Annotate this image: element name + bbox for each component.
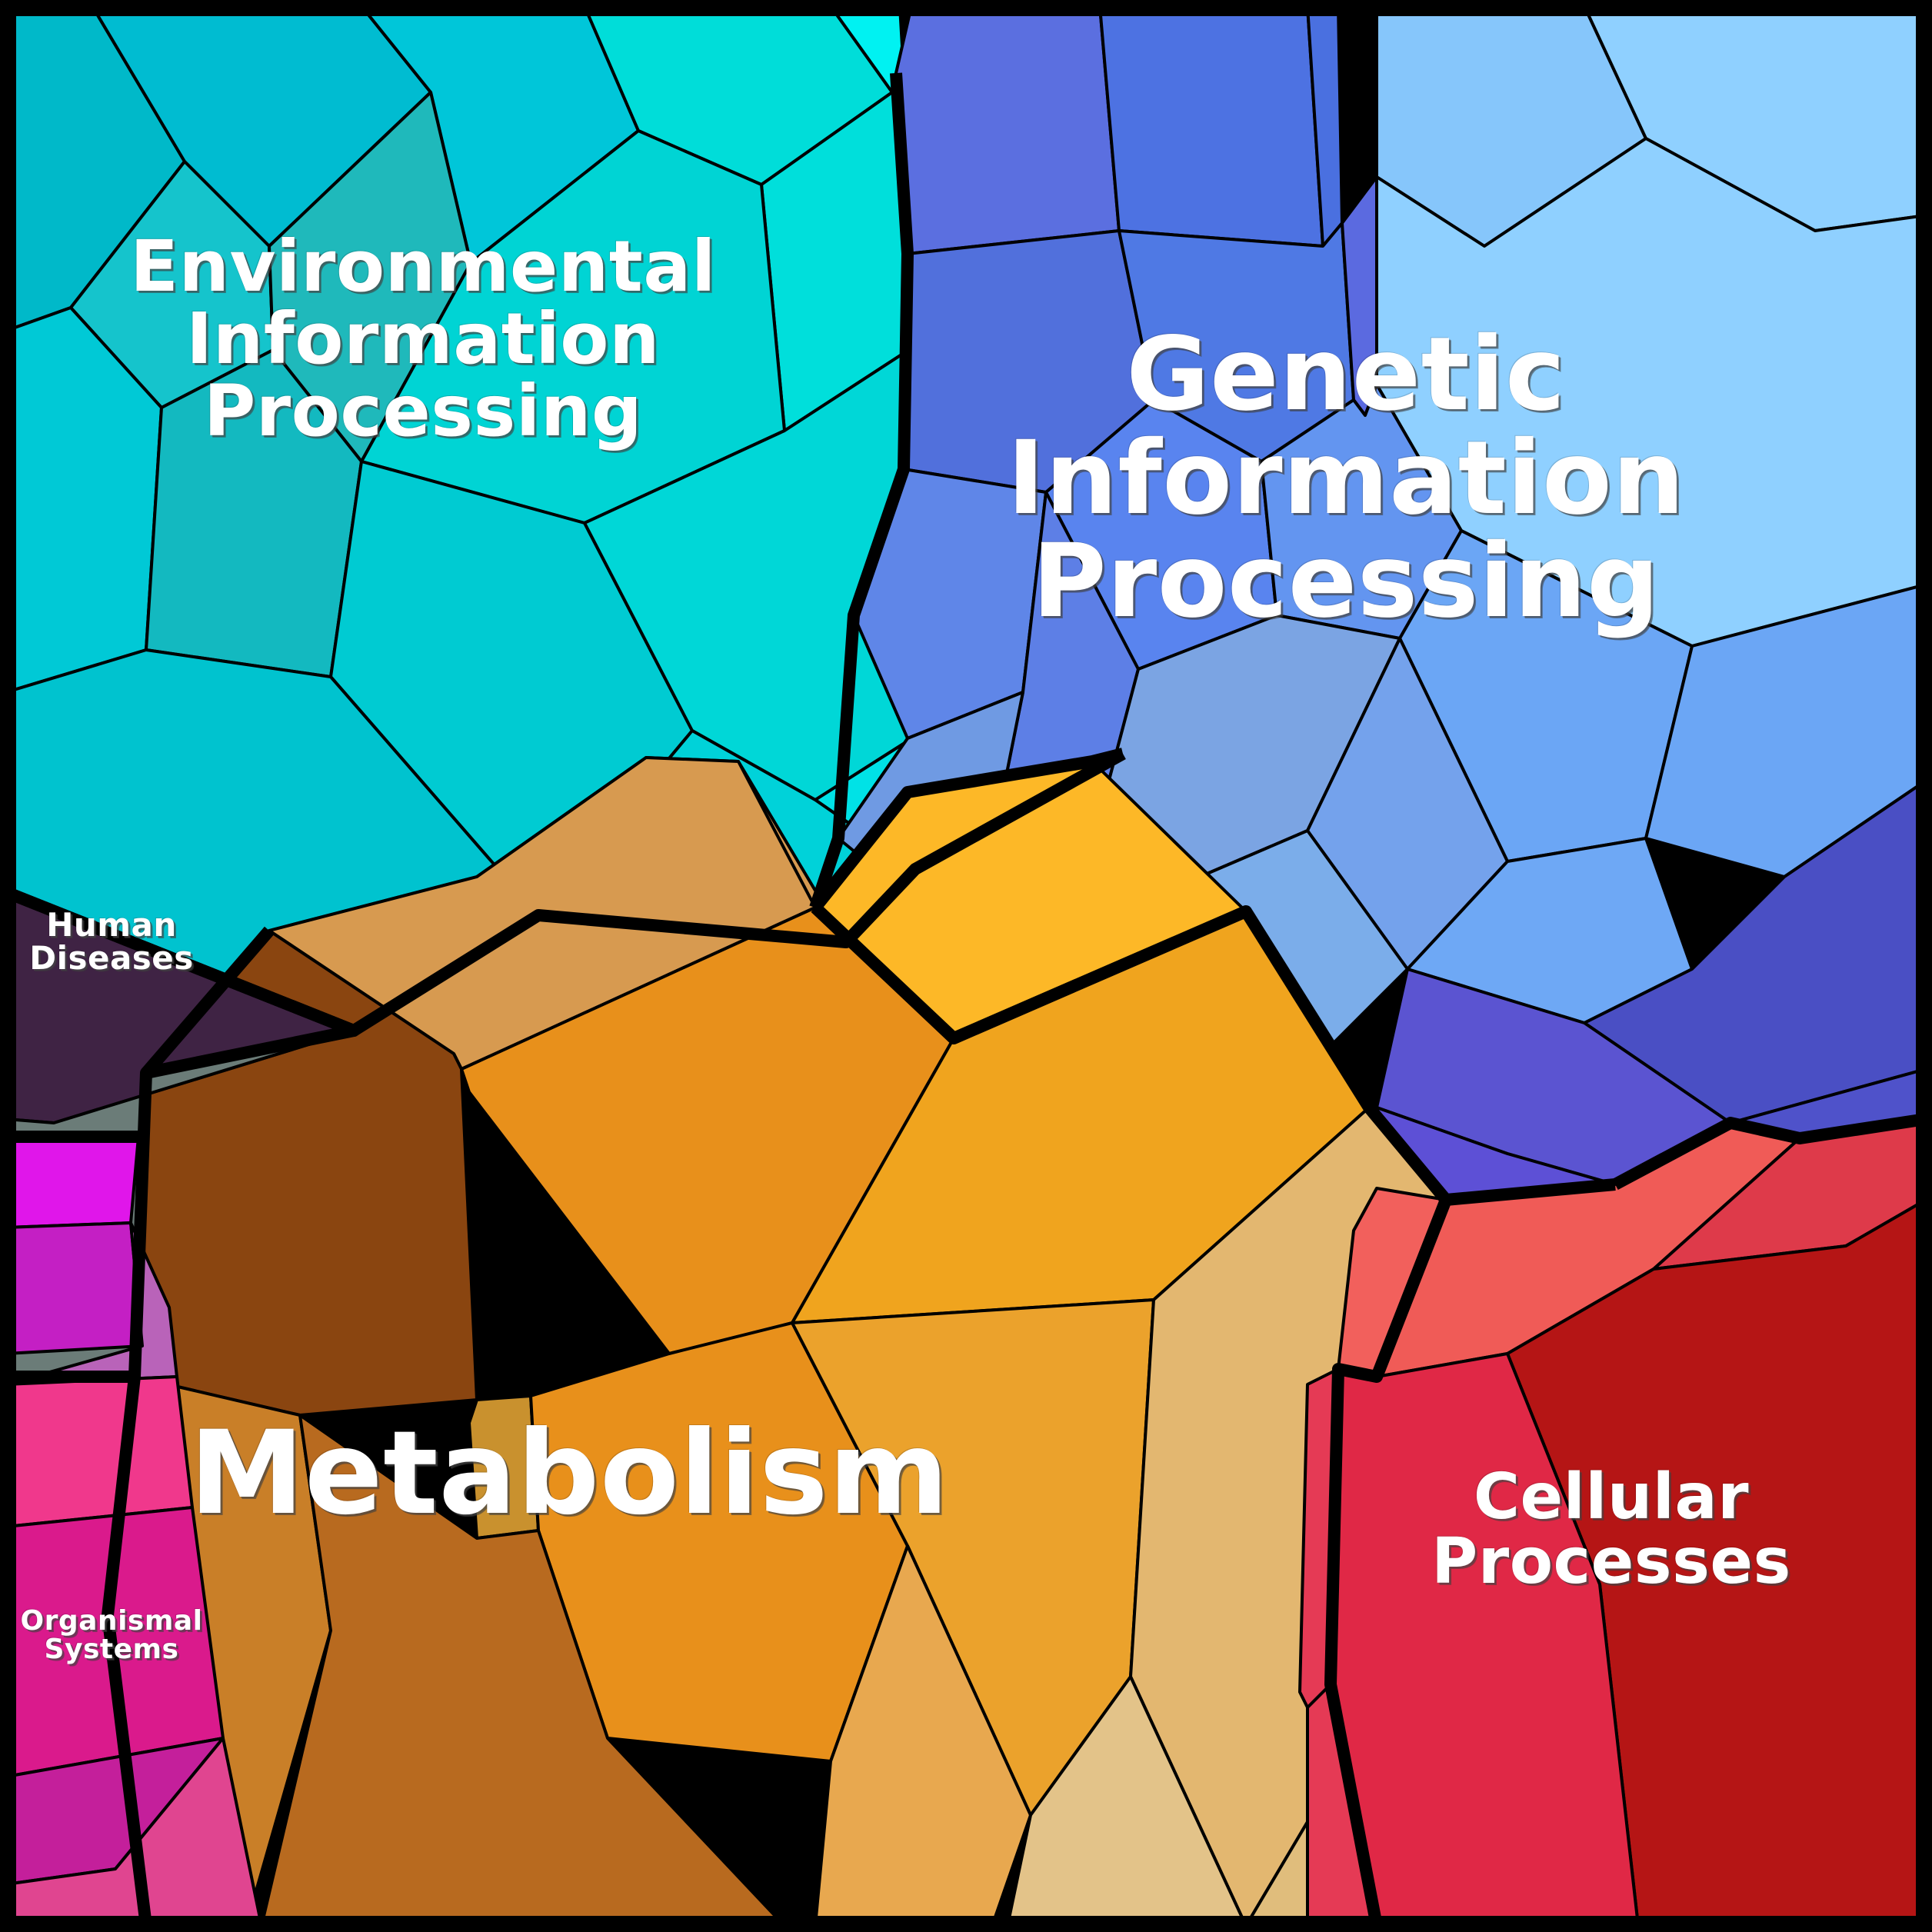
group-cellular-processes[interactable] bbox=[1300, 1119, 1926, 1926]
treemap-cell[interactable] bbox=[469, 1396, 538, 1538]
treemap-cell[interactable] bbox=[896, 6, 1119, 254]
treemap-cell[interactable] bbox=[6, 1377, 192, 1527]
treemap-cell[interactable] bbox=[1100, 6, 1323, 246]
treemap-cell[interactable] bbox=[6, 1137, 138, 1227]
treemap-canvas bbox=[0, 0, 1932, 1932]
voronoi-treemap-figure: Environmental Information Processing Gen… bbox=[0, 0, 1932, 1932]
treemap-cell[interactable] bbox=[6, 1223, 142, 1354]
